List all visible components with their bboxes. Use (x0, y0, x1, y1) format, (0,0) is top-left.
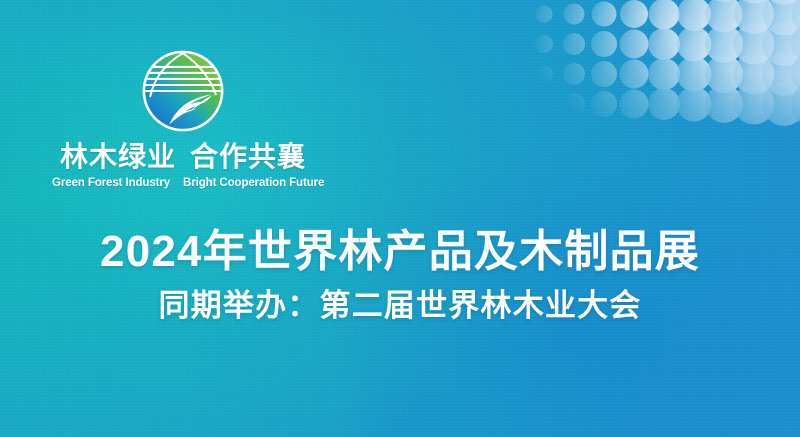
globe-leaf-emblem (140, 48, 226, 134)
slogan-english: Green Forest IndustryBright Cooperation … (52, 177, 314, 189)
slogan-english-right: Bright Cooperation Future (183, 177, 324, 189)
slogan-english-left: Green Forest Industry (52, 177, 170, 189)
logo-lockup: 林木绿业合作共襄 Green Forest IndustryBright Coo… (52, 48, 314, 189)
background-blob-left (80, 315, 256, 429)
headline-block: 2024年世界林产品及木制品展 同期举办：第二届世界林木业大会 (0, 228, 800, 323)
event-subtitle: 同期举办：第二届世界林木业大会 (0, 289, 800, 323)
circle-grid-pattern (524, 0, 800, 146)
slogan-chinese-left: 林木绿业 (60, 141, 176, 172)
slogan-chinese: 林木绿业合作共襄 (52, 142, 314, 172)
event-title: 2024年世界林产品及木制品展 (0, 228, 800, 276)
event-banner: 林木绿业合作共襄 Green Forest IndustryBright Coo… (0, 0, 800, 437)
background-blob-center (304, 350, 512, 437)
slogan-chinese-right: 合作共襄 (190, 141, 306, 172)
